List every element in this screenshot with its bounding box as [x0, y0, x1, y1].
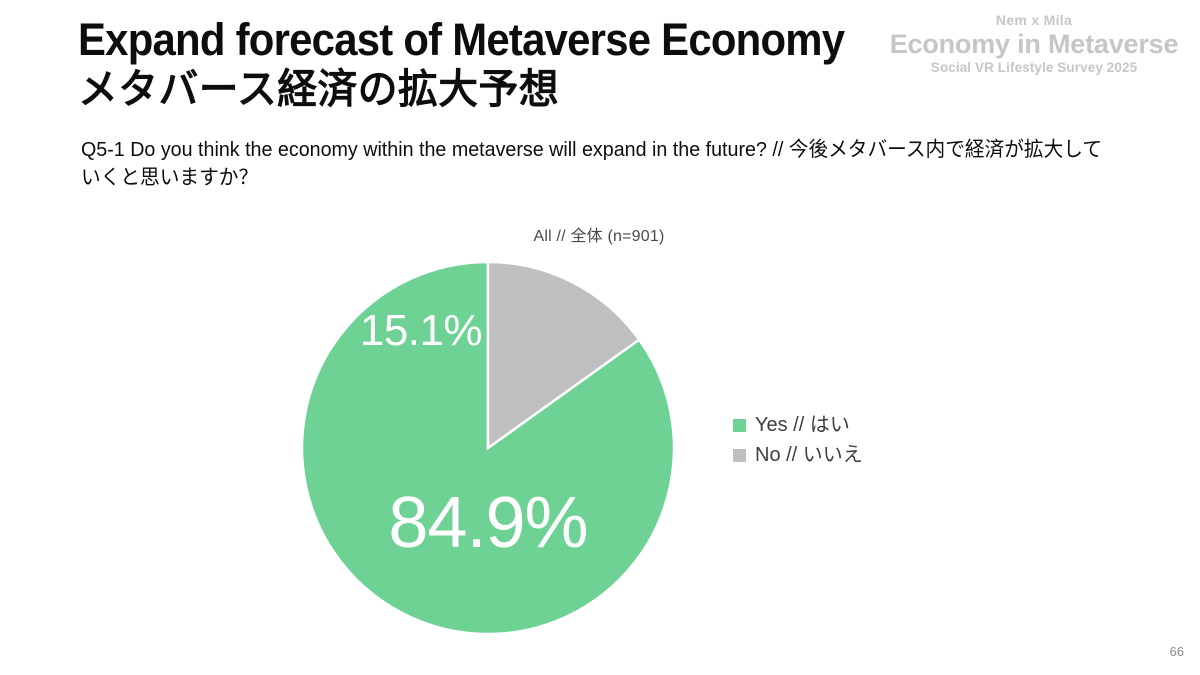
page-number: 66: [1170, 644, 1184, 659]
chart-legend: Yes // はい No // いいえ: [733, 410, 863, 470]
pie-label-no: 15.1%: [330, 309, 512, 353]
legend-label-no: No // いいえ: [755, 445, 863, 465]
brand-authors: Nem x Mila: [884, 12, 1184, 29]
page-title: Expand forecast of Metaverse Economy メタバ…: [78, 16, 888, 113]
legend-swatch-no-icon: [733, 449, 746, 462]
legend-item-no[interactable]: No // いいえ: [733, 440, 863, 470]
legend-label-yes: Yes // はい: [755, 415, 850, 435]
legend-swatch-yes-icon: [733, 419, 746, 432]
slide-canvas: Expand forecast of Metaverse Economy メタバ…: [0, 0, 1200, 675]
brand-subtitle: Social VR Lifestyle Survey 2025: [884, 59, 1184, 77]
brand-title: Economy in Metaverse: [884, 29, 1184, 59]
legend-item-yes[interactable]: Yes // はい: [733, 410, 863, 440]
brand-block: Nem x Mila Economy in Metaverse Social V…: [884, 12, 1184, 77]
chart-title-label: All // 全体 (n=901): [533, 222, 664, 246]
page-title-japanese: メタバース経済の拡大予想: [78, 66, 864, 113]
question-text: Q5-1 Do you think the economy within the…: [81, 136, 1103, 193]
pie-label-yes: 84.9%: [347, 487, 629, 559]
pie-chart: 84.9% 15.1%: [302, 262, 674, 634]
chart-title: All // 全体 (n=901): [0, 222, 1200, 246]
page-title-english: Expand forecast of Metaverse Economy: [78, 16, 831, 64]
